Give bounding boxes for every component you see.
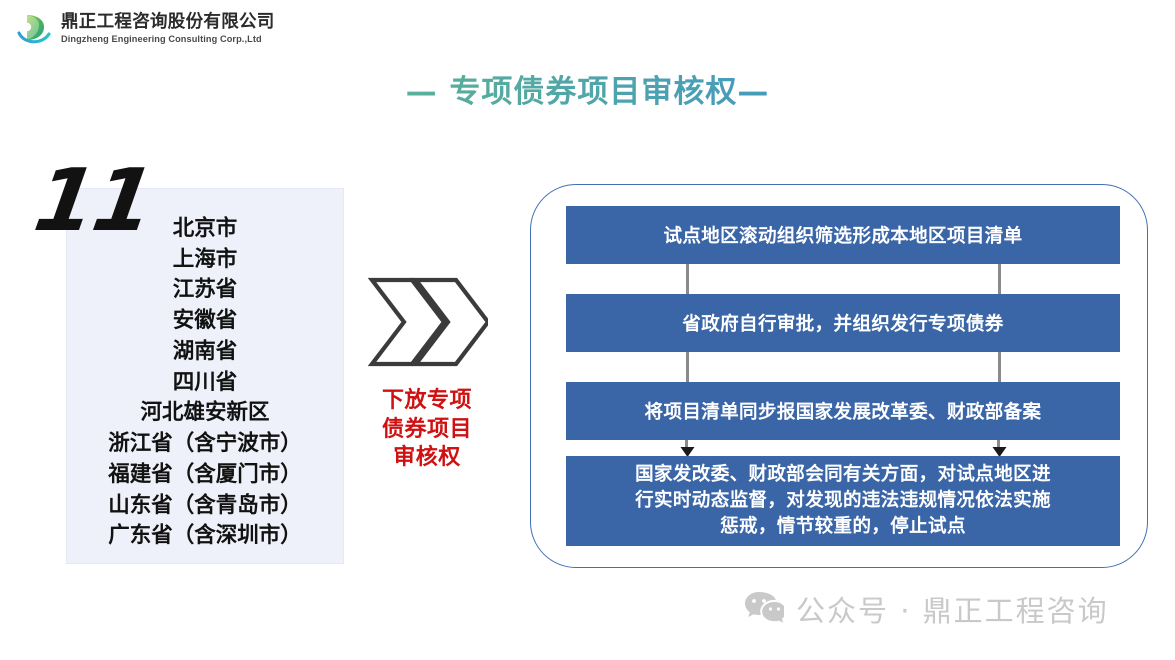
- brand-name-en: Dingzheng Engineering Consulting Corp.,L…: [61, 35, 275, 44]
- province-item: 湖南省: [66, 337, 344, 368]
- province-item: 河北雄安新区: [66, 398, 344, 429]
- connector-line-right-1: [998, 264, 1001, 294]
- slide-canvas: 鼎正工程咨询股份有限公司 Dingzheng Engineering Consu…: [0, 0, 1175, 660]
- caption-line: 审核权: [352, 444, 502, 473]
- province-item: 江苏省: [66, 275, 344, 306]
- connector-line-left-2: [686, 352, 689, 382]
- dingzheng-leaf-logo-icon: [14, 9, 54, 49]
- brand-text-block: 鼎正工程咨询股份有限公司 Dingzheng Engineering Consu…: [61, 14, 275, 44]
- delegation-caption: 下放专项债券项目审核权: [352, 387, 502, 473]
- flow-step-4-line: 行实时动态监督，对发现的违法违规情况依法实施: [635, 488, 1051, 514]
- wechat-icon: [744, 590, 784, 629]
- flow-steps: 试点地区滚动组织筛选形成本地区项目清单 省政府自行审批，并组织发行专项债券 将项…: [566, 206, 1120, 546]
- flow-step-2: 省政府自行审批，并组织发行专项债券: [566, 294, 1120, 352]
- brand-header: 鼎正工程咨询股份有限公司 Dingzheng Engineering Consu…: [14, 6, 284, 52]
- count-badge-number: 11: [29, 158, 158, 244]
- flow-step-4-text: 国家发改委、财政部会同有关方面，对试点地区进行实时动态监督，对发现的违法违规情况…: [635, 462, 1051, 541]
- connector-line-left-1: [686, 264, 689, 294]
- province-item: 广东省（含深圳市）: [66, 521, 344, 552]
- flow-step-1: 试点地区滚动组织筛选形成本地区项目清单: [566, 206, 1120, 264]
- double-chevron-right-icon: [368, 276, 488, 368]
- province-item: 浙江省（含宁波市）: [66, 429, 344, 460]
- watermark-text: 公众号 · 鼎正工程咨询: [796, 588, 1109, 630]
- flow-step-3: 将项目清单同步报国家发展改革委、财政部备案: [566, 382, 1120, 440]
- flow-step-4-line: 国家发改委、财政部会同有关方面，对试点地区进: [635, 462, 1051, 488]
- page-title: — 专项债券项目审核权—: [0, 66, 1175, 111]
- flow-step-4-line: 惩戒，情节较重的，停止试点: [635, 514, 1051, 540]
- province-item: 安徽省: [66, 306, 344, 337]
- flow-step-4-supervision: 国家发改委、财政部会同有关方面，对试点地区进行实时动态监督，对发现的违法违规情况…: [566, 456, 1120, 546]
- province-item: 山东省（含青岛市）: [66, 491, 344, 522]
- province-list: 北京市上海市江苏省安徽省湖南省四川省河北雄安新区浙江省（含宁波市）福建省（含厦门…: [66, 214, 344, 552]
- wechat-watermark: 公众号 · 鼎正工程咨询: [744, 588, 1109, 630]
- brand-name-cn: 鼎正工程咨询股份有限公司: [61, 14, 275, 32]
- province-item: 福建省（含厦门市）: [66, 460, 344, 491]
- connector-line-right-2: [998, 352, 1001, 382]
- caption-line: 债券项目: [352, 416, 502, 445]
- caption-line: 下放专项: [352, 387, 502, 416]
- province-item: 四川省: [66, 368, 344, 399]
